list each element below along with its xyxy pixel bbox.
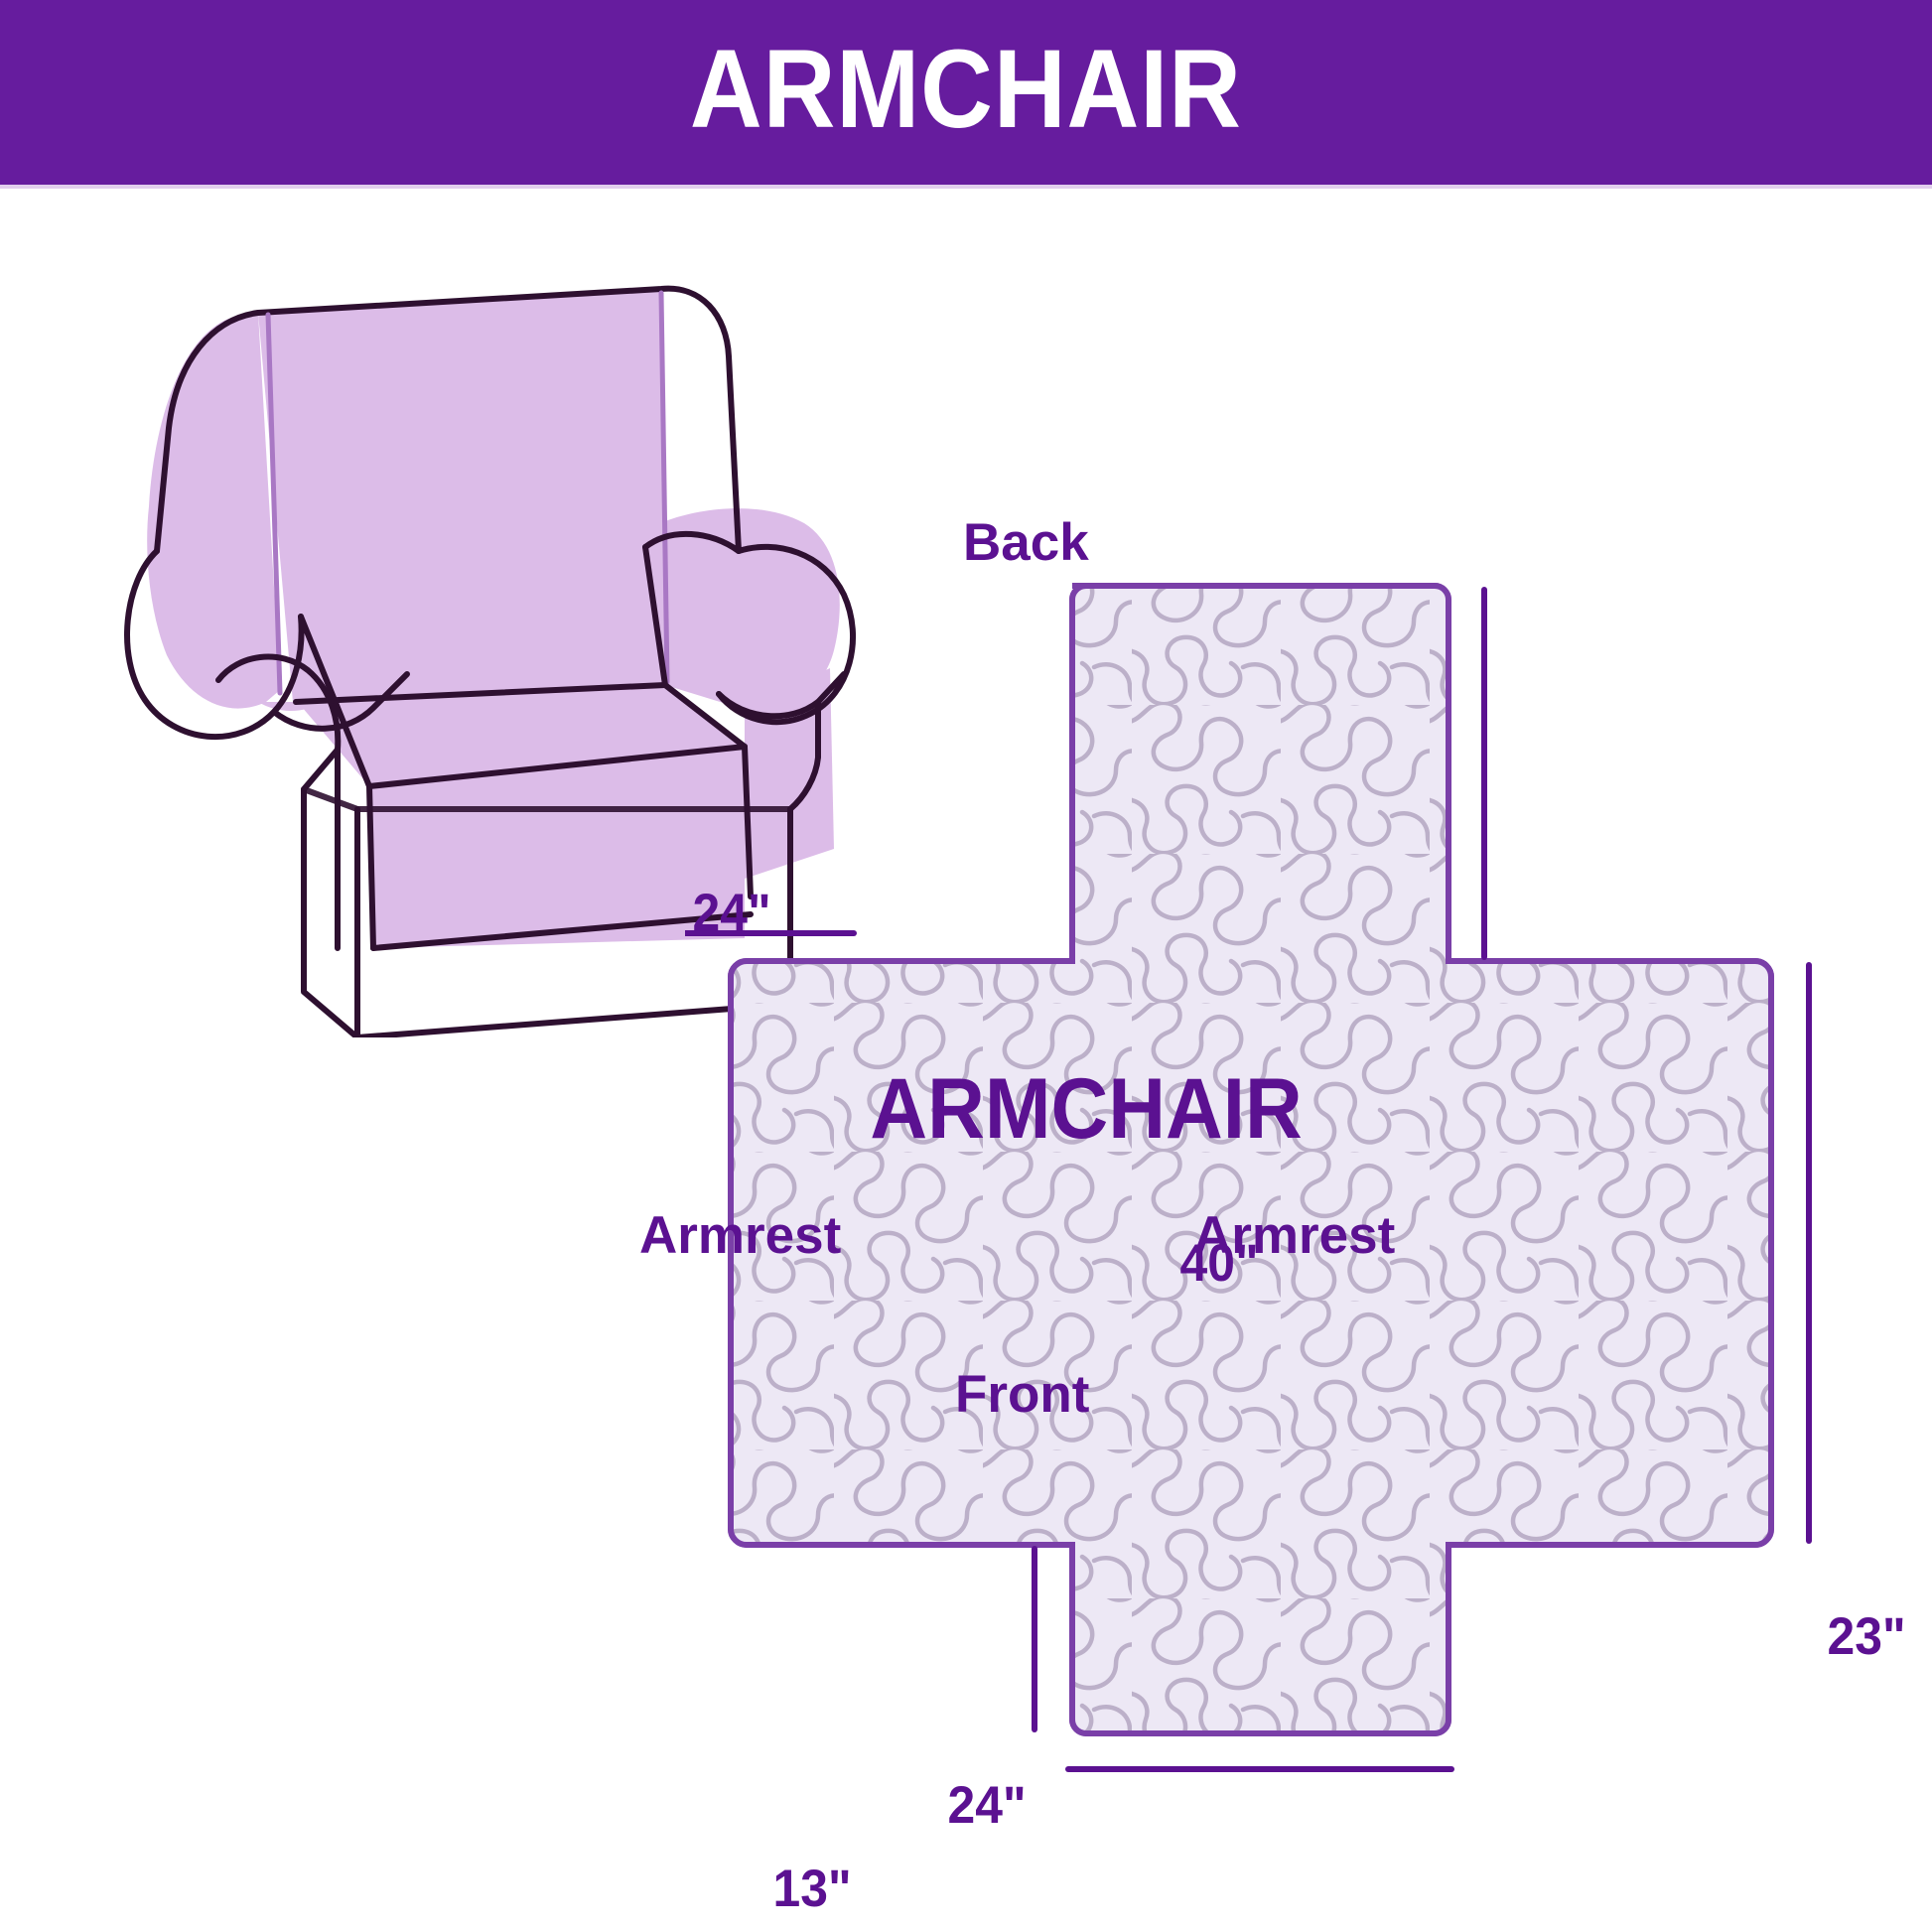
dimension-label-front-height: 13"	[773, 1863, 852, 1915]
slipcover-pattern-diagram: Back ARMCHAIR Armrest Armrest Front 40" …	[685, 556, 1932, 1847]
dimension-label-back-width: 24"	[693, 887, 771, 939]
header-divider	[0, 185, 1932, 189]
panel-label-center: ARMCHAIR	[870, 1066, 1302, 1152]
dimension-label-front-width: 24"	[948, 1779, 1027, 1832]
panel-label-armrest-left: Armrest	[639, 1209, 841, 1262]
panel-label-back: Back	[963, 516, 1089, 569]
panel-label-front: Front	[955, 1368, 1089, 1421]
dimension-label-band-height: 23"	[1828, 1610, 1906, 1663]
page-title: ARMCHAIR	[690, 34, 1242, 151]
slipcover-shape	[731, 586, 1771, 1733]
dimension-label-back-height: 40"	[1180, 1237, 1259, 1290]
header-banner: ARMCHAIR	[0, 0, 1932, 185]
